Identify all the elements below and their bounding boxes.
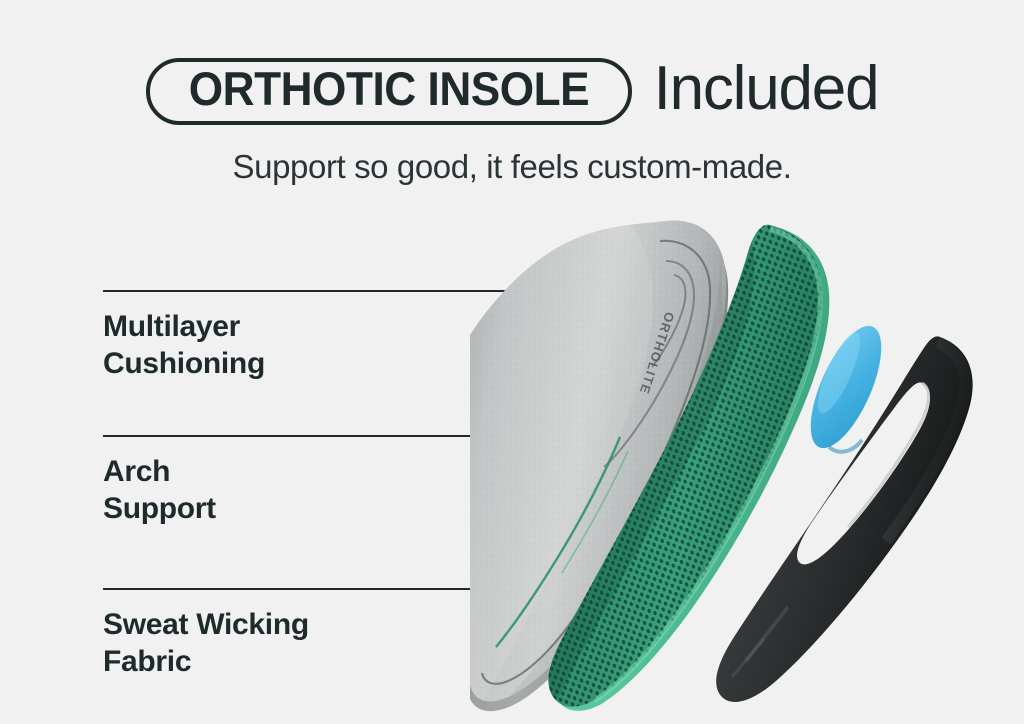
feature-connector-line bbox=[103, 588, 508, 590]
feature-label: Multilayer Cushioning bbox=[103, 309, 265, 382]
feature-callout-arch-support: Arch Support bbox=[103, 430, 216, 527]
feature-connector bbox=[103, 583, 309, 594]
subtitle: Support so good, it feels custom-made. bbox=[0, 148, 1024, 186]
headline-pill-badge: ORTHOTIC INSOLE bbox=[146, 58, 632, 125]
headline-suffix-label: Included bbox=[654, 58, 879, 120]
headline: ORTHOTIC INSOLE Included bbox=[0, 58, 1024, 125]
feature-label: Sweat Wicking Fabric bbox=[103, 607, 309, 680]
headline-pill-label: ORTHOTIC INSOLE bbox=[188, 65, 588, 114]
feature-label: Arch Support bbox=[103, 454, 216, 527]
orthotic-insole-promo-banner: ORTHOTIC INSOLE Included Support so good… bbox=[0, 0, 1024, 724]
feature-connector bbox=[103, 430, 216, 441]
feature-connector bbox=[103, 285, 265, 296]
feature-callout-sweat-wicking-fabric: Sweat Wicking Fabric bbox=[103, 583, 309, 680]
product-image: ORTHOLITE bbox=[470, 215, 1024, 715]
feature-callout-multilayer-cushioning: Multilayer Cushioning bbox=[103, 285, 265, 382]
